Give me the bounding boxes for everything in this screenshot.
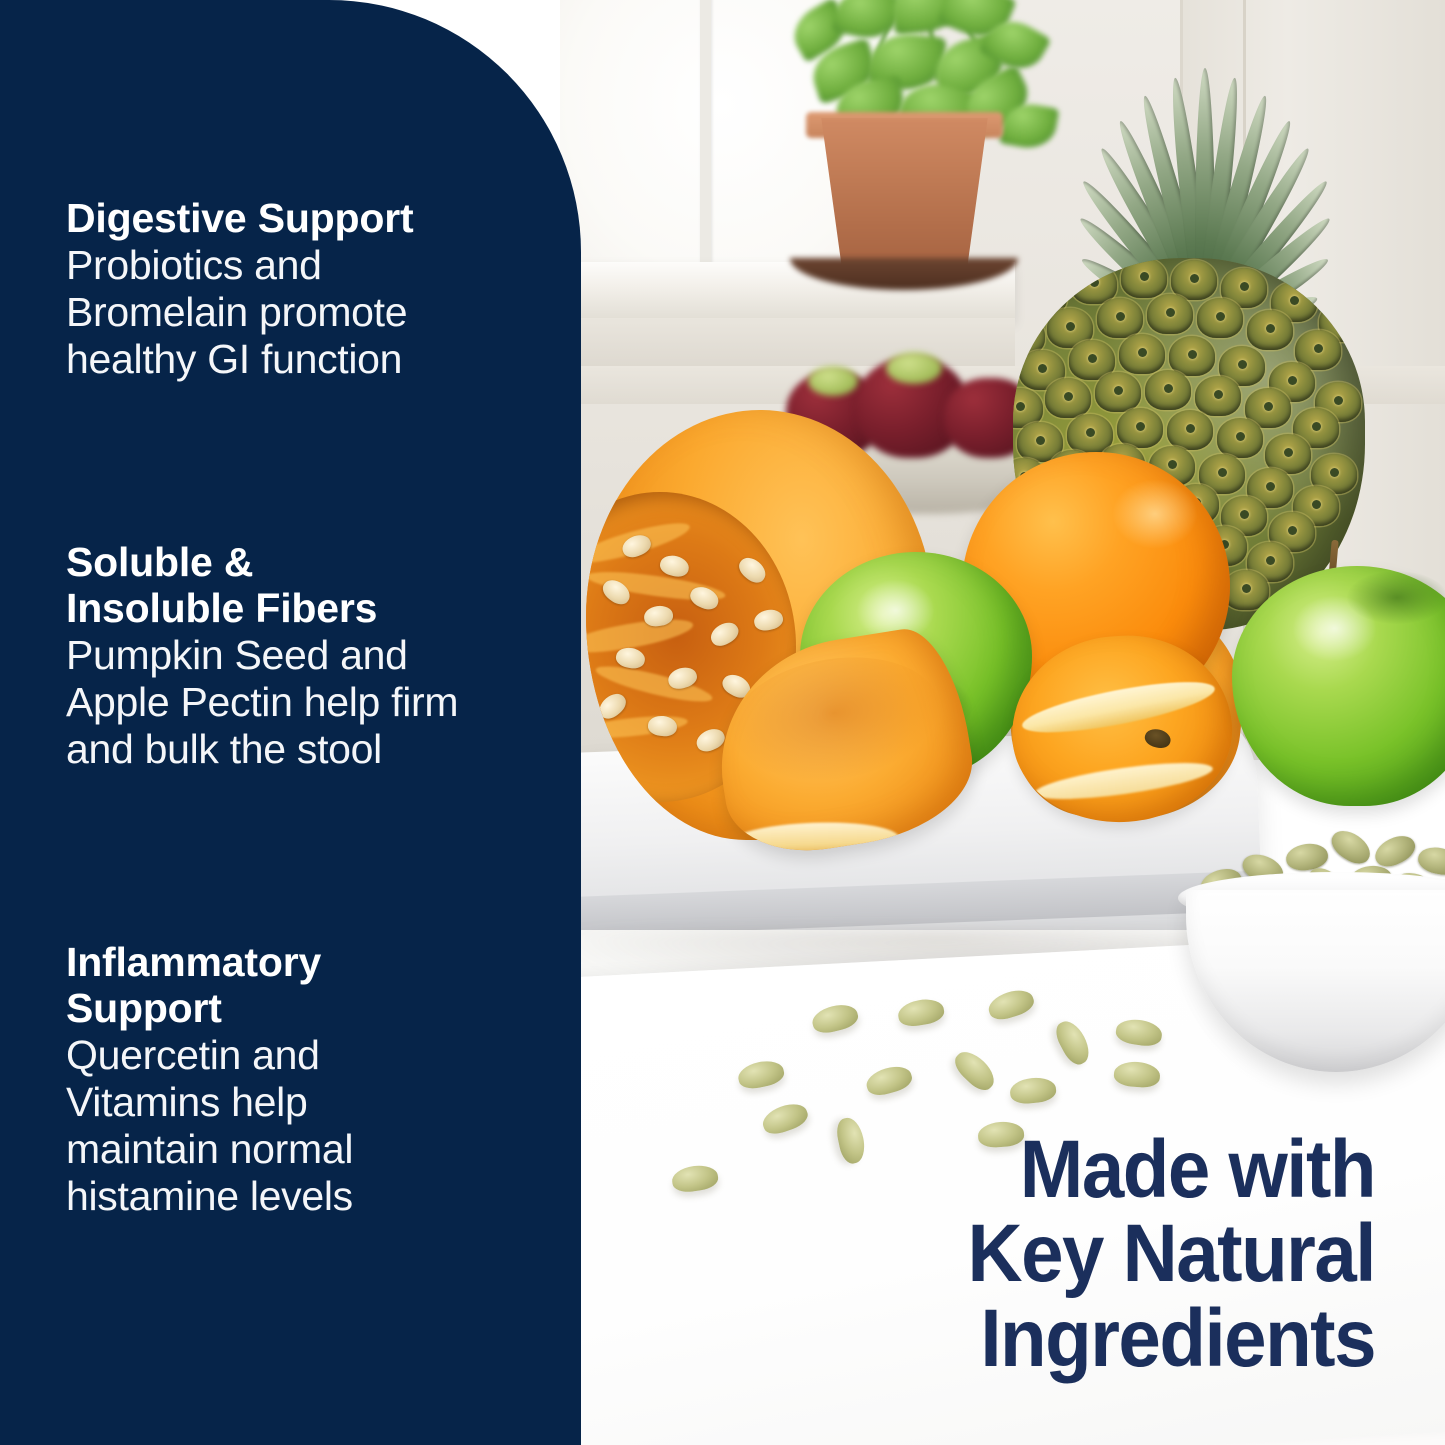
feature-body: Pumpkin Seed and Apple Pectin help firm … [66, 632, 558, 773]
feature-body-line: Pumpkin Seed and [66, 632, 408, 678]
headline-line: Made with [687, 1128, 1375, 1212]
feature-body-line: and bulk the stool [66, 726, 382, 772]
feature-body: Probiotics and Bromelain promote healthy… [66, 242, 558, 383]
feature-heading: Soluble & Insoluble Fibers [66, 540, 558, 632]
headline-line: Ingredients [687, 1297, 1375, 1381]
main-headline: Made with Key Natural Ingredients [687, 1128, 1375, 1381]
feature-heading-line: Inflammatory [66, 939, 321, 985]
feature-heading-line: Support [66, 985, 222, 1031]
infographic-canvas: Digestive Support Probiotics and Bromela… [0, 0, 1445, 1445]
feature-heading: Inflammatory Support [66, 940, 558, 1032]
feature-block-inflammatory-support: Inflammatory Support Quercetin and Vitam… [66, 940, 558, 1220]
feature-copy-column: Digestive Support Probiotics and Bromela… [66, 0, 558, 1445]
feature-heading-line: Insoluble Fibers [66, 585, 377, 631]
window-apron [545, 318, 1015, 370]
terracotta-pot [812, 118, 997, 266]
feature-body: Quercetin and Vitamins help maintain nor… [66, 1032, 558, 1221]
feature-body-line: histamine levels [66, 1173, 353, 1219]
feature-body-line: maintain normal [66, 1126, 353, 1172]
feature-block-soluble-insoluble-fibers: Soluble & Insoluble Fibers Pumpkin Seed … [66, 540, 558, 773]
feature-heading: Digestive Support [66, 196, 558, 242]
feature-body-line: Bromelain promote [66, 289, 407, 335]
orange-seed [1143, 727, 1173, 751]
headline-line: Key Natural [687, 1212, 1375, 1296]
window-mullion [700, 0, 711, 290]
feature-body-line: Apple Pectin help firm [66, 679, 458, 725]
green-apple-right [1232, 566, 1445, 806]
feature-body-line: Probiotics and [66, 242, 322, 288]
feature-block-digestive-support: Digestive Support Probiotics and Bromela… [66, 196, 558, 383]
feature-body-line: healthy GI function [66, 336, 402, 382]
feature-heading-line: Soluble & [66, 539, 253, 585]
feature-body-line: Quercetin and [66, 1032, 320, 1078]
feature-body-line: Vitamins help [66, 1079, 307, 1125]
